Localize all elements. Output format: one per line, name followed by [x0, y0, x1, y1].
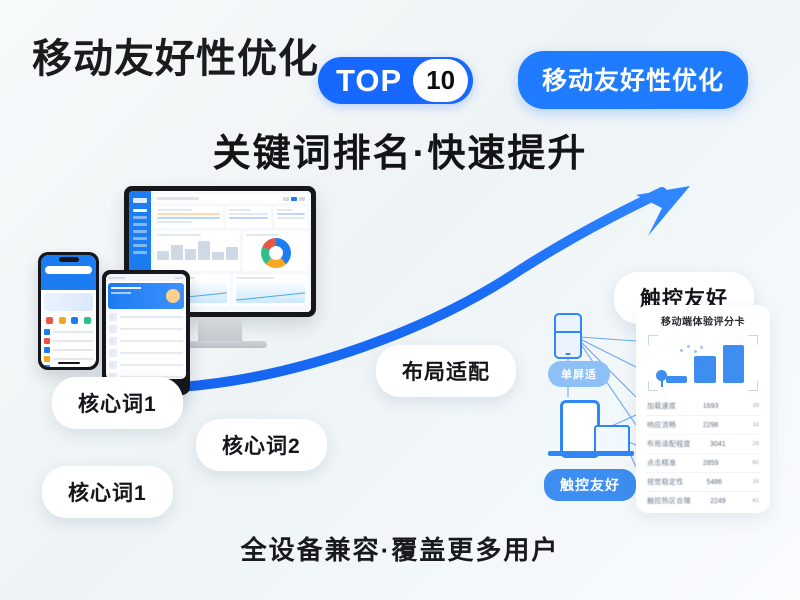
tablet-topbar [106, 274, 186, 281]
dashboard-nav-item [133, 230, 147, 233]
dashboard-nav-item [133, 216, 147, 219]
table-row: 触控热区合理 2249 41 [646, 492, 760, 510]
dashboard-nav-item [133, 251, 147, 254]
list-item [109, 337, 183, 345]
list-item [44, 329, 93, 335]
table-row: 布局适配程度 3041 28 [646, 435, 760, 454]
pill-touch-friendly: 触控友好 [544, 469, 636, 501]
table-row: 响应流畅 2298 18 [646, 416, 760, 435]
dashboard-nav-item [133, 244, 147, 247]
small-phone-icon [554, 313, 582, 359]
dashboard-donut-card [243, 231, 308, 271]
dashboard-nav-item [133, 209, 147, 212]
scorecard-hero-chart [648, 335, 758, 391]
top-badge-word: TOP [336, 65, 413, 96]
scorecard-bars [666, 339, 744, 383]
dashboard-card [154, 206, 223, 228]
pill-single-screen: 单屏适 [548, 361, 610, 387]
tablet-hero-banner [108, 283, 184, 309]
laptop-icon [594, 425, 630, 454]
feature-pill-layout: 布局适配 [376, 345, 516, 397]
list-item [44, 338, 93, 344]
device-mockup-group [24, 186, 344, 386]
laptop-base-icon [548, 451, 634, 456]
list-item [109, 361, 183, 369]
phone-home-indicator [58, 362, 80, 364]
list-item [44, 365, 93, 367]
dashboard-logo [133, 198, 147, 203]
phone-list [41, 327, 96, 367]
tablet-list [106, 311, 186, 379]
phone-icon-row [41, 314, 96, 327]
page-title: 移动友好性优化 [32, 26, 319, 84]
scorecard-table: 加载速度 1693 39 响应流畅 2298 18 布局适配程度 3041 28… [646, 397, 760, 510]
top-10-badge: TOP 10 [318, 57, 473, 104]
dashboard-bar-chart [157, 238, 237, 260]
dashboard-row [154, 206, 308, 228]
keyword-pill-3: 核心词1 [42, 466, 173, 518]
dashboard-topbar-actions [283, 197, 305, 201]
phone-search-bar [45, 266, 92, 274]
dashboard-topbar [154, 194, 308, 203]
keyword-pill-2: 核心词2 [196, 419, 327, 471]
phone-notch [59, 257, 79, 262]
phone-screen [41, 255, 96, 367]
dashboard-card [226, 206, 271, 228]
dashboard-nav-item [133, 223, 147, 226]
phone-banner [44, 293, 93, 311]
monitor-stand [198, 317, 242, 341]
header-tag-pill: 移动友好性优化 [518, 51, 748, 109]
table-row: 点击精准 2859 60 [646, 454, 760, 473]
smartphone-mockup [38, 252, 99, 370]
device-compatibility-cluster: 单屏适 触控友好 移动端体验评分卡 加载速度 [540, 305, 770, 515]
scorecard-title: 移动端体验评分卡 [646, 313, 760, 328]
dashboard-card [154, 231, 240, 271]
dashboard-card [233, 274, 309, 306]
top-badge-number: 10 [413, 59, 468, 102]
dashboard-row [154, 231, 308, 271]
table-row: 视觉稳定性 5486 16 [646, 473, 760, 492]
list-item [109, 325, 183, 333]
list-item [109, 313, 183, 321]
dashboard-nav-item [133, 237, 147, 240]
tablet-screen [106, 274, 186, 379]
dashboard-area-chart [236, 281, 306, 303]
dashboard-card [274, 206, 308, 228]
table-row: 加载速度 1693 39 [646, 397, 760, 416]
dashboard-donut-chart [261, 238, 291, 268]
mobile-experience-scorecard: 移动端体验评分卡 加载速度 1693 39 [636, 305, 770, 513]
list-item [44, 347, 93, 353]
dashboard-search-bar [157, 197, 199, 200]
list-item [109, 349, 183, 357]
poster-canvas: 移动友好性优化 TOP 10 移动友好性优化 关键词排名·快速提升 [0, 0, 800, 600]
keyword-pill-1: 核心词1 [52, 377, 183, 429]
footer-tagline: 全设备兼容·覆盖更多用户 [0, 530, 800, 567]
